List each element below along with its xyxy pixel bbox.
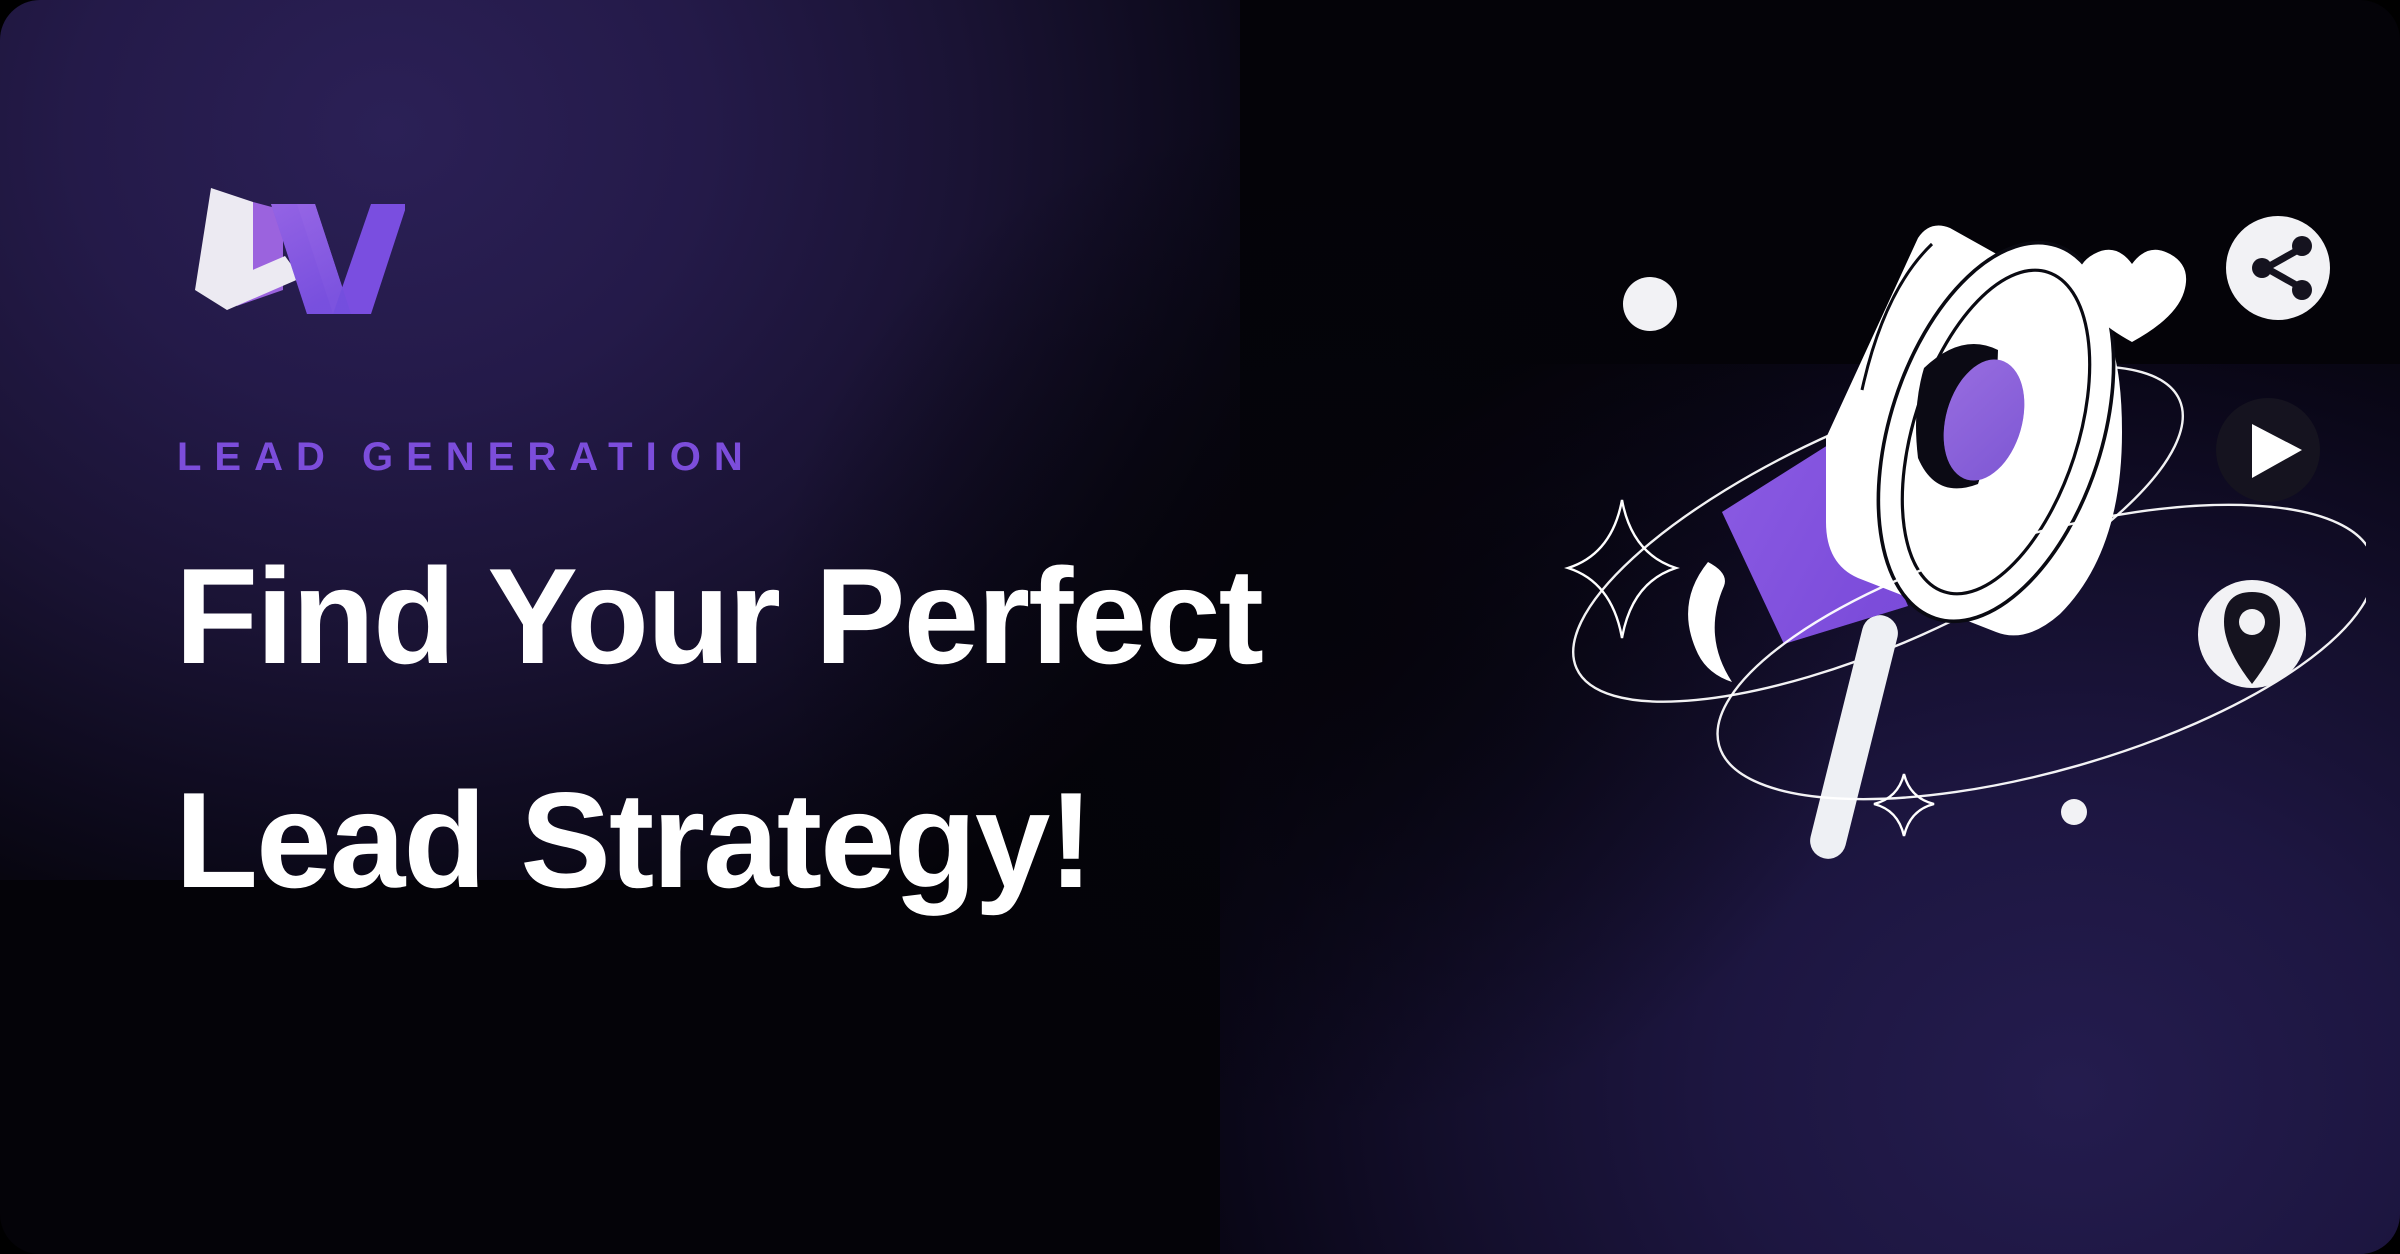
page-title: Find Your Perfect Lead Strategy! bbox=[175, 548, 1425, 908]
four-point-star-small bbox=[1874, 774, 1934, 836]
lw-monogram-logo[interactable] bbox=[175, 178, 405, 318]
orbit-dot-small bbox=[2061, 799, 2087, 825]
headline-highlight-wrap: Strategy! bbox=[520, 772, 1092, 908]
headline-line-1: Find Your Perfect bbox=[175, 548, 1425, 684]
play-icon[interactable] bbox=[2216, 398, 2320, 502]
headline-line-2: Lead Strategy! bbox=[175, 772, 1425, 908]
share-icon[interactable] bbox=[2226, 216, 2330, 320]
hero-content: LEAD GENERATION Find Your Perfect Lead S… bbox=[175, 0, 1425, 1254]
eyebrow-label: LEAD GENERATION bbox=[177, 435, 756, 480]
location-pin-icon[interactable] bbox=[2198, 580, 2306, 688]
headline-line-2-prefix: Lead bbox=[175, 764, 520, 916]
orbit-sphere-large bbox=[1623, 277, 1677, 331]
headline-line-2-highlight: Strategy! bbox=[520, 764, 1092, 916]
lead-generation-banner: LEAD GENERATION Find Your Perfect Lead S… bbox=[0, 0, 2400, 1254]
crescent-shape bbox=[1688, 562, 1732, 682]
megaphone-marketing-illustration bbox=[1526, 182, 2366, 922]
megaphone-handle bbox=[1806, 611, 1901, 862]
